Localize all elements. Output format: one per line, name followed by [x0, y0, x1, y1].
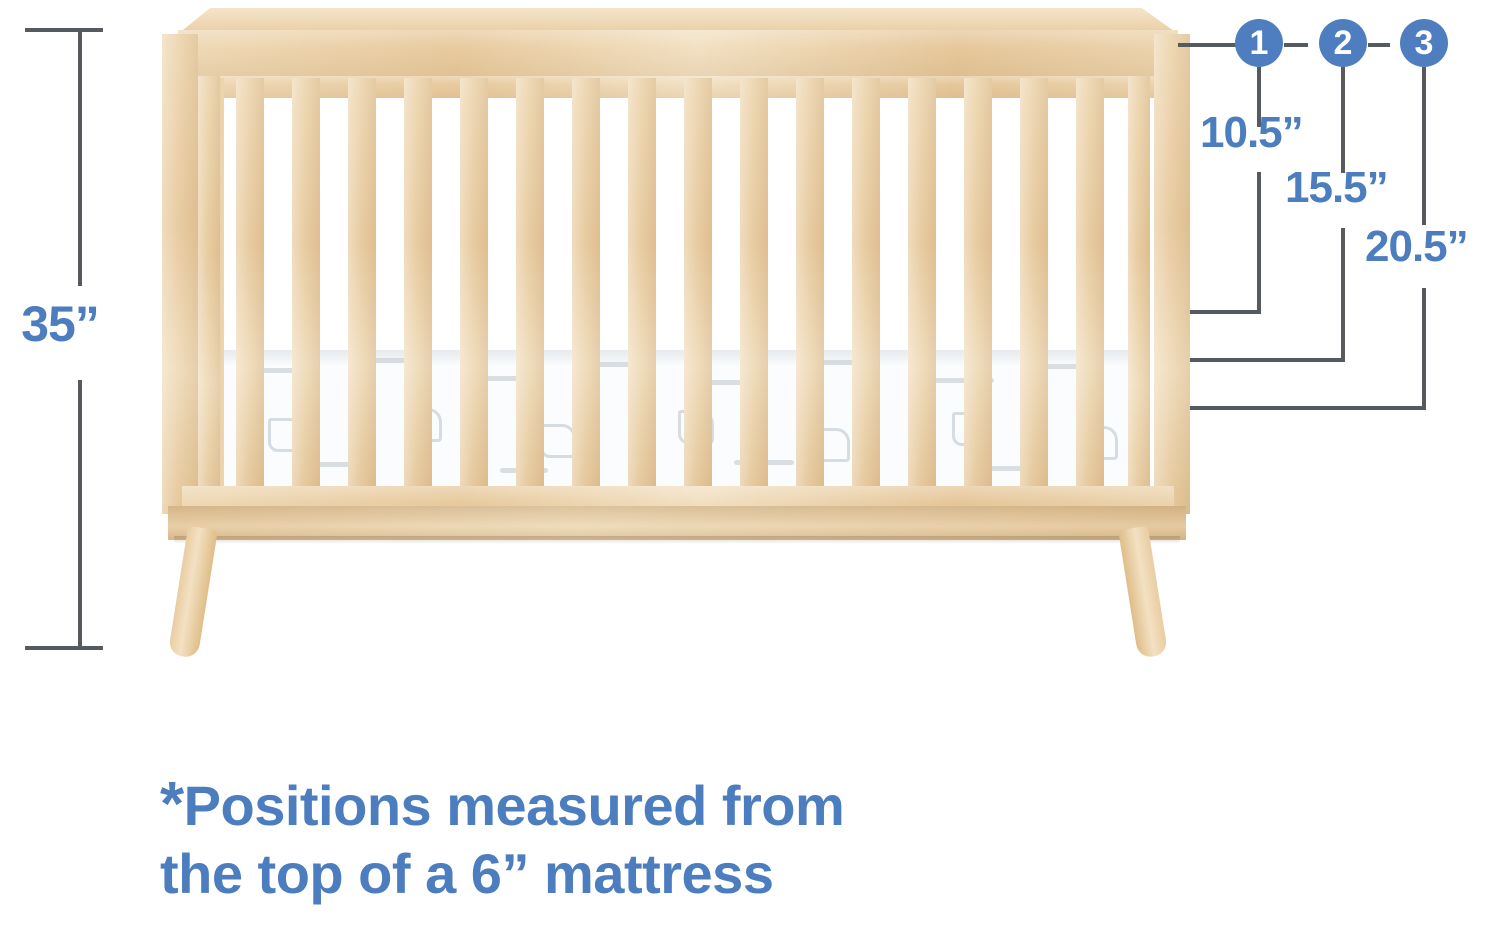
crib-slat	[460, 78, 488, 490]
crib-slat	[404, 78, 432, 490]
crib-slat	[572, 78, 600, 490]
footnote-line-2: the top of a 6” mattress	[160, 842, 773, 905]
mattress-position-callouts: 1 2 3 10.5” 15.5” 20.5”	[1150, 0, 1500, 440]
leader-3-drop-lower	[1422, 288, 1426, 410]
badge-connector-lead	[1178, 43, 1236, 47]
crib-slat	[348, 78, 376, 490]
measurement-label-2: 15.5”	[1285, 163, 1388, 213]
badge-connector-2-3	[1368, 43, 1390, 47]
footnote-line-1: Positions measured from	[184, 774, 845, 837]
crib-slat	[964, 78, 992, 490]
badge-connector-1-2	[1284, 43, 1308, 47]
crib-slat	[292, 78, 320, 490]
footnote-text: *Positions measured from the top of a 6”…	[160, 768, 1180, 907]
height-dimension-top-cap	[25, 28, 103, 32]
leader-1-drop-lower	[1257, 172, 1261, 314]
leader-2-drop-lower	[1341, 228, 1345, 362]
height-dimension-label: 35”	[0, 295, 120, 353]
leader-3-elbow	[1190, 406, 1426, 410]
crib-post-right-inner	[1128, 76, 1150, 516]
crib-leg-left	[168, 526, 218, 659]
position-badge-3[interactable]: 3	[1400, 19, 1448, 67]
leader-1-elbow	[1190, 310, 1261, 314]
crib-slat	[236, 78, 264, 490]
height-dimension-rule-lower	[78, 380, 82, 650]
leader-3-drop-upper	[1422, 67, 1426, 225]
crib-slat	[628, 78, 656, 490]
measurement-label-1: 10.5”	[1200, 108, 1303, 158]
infographic-canvas: 35”	[0, 0, 1500, 939]
position-badge-1[interactable]: 1	[1235, 19, 1283, 67]
height-dimension-bottom-cap	[25, 646, 103, 650]
position-badge-2[interactable]: 2	[1319, 19, 1367, 67]
crib-slat	[852, 78, 880, 490]
crib-slat	[908, 78, 936, 490]
crib-slat	[740, 78, 768, 490]
crib-slat	[516, 78, 544, 490]
crib-slat	[1076, 78, 1104, 490]
crib-post-left	[162, 34, 198, 514]
crib-slat	[796, 78, 824, 490]
crib-slat	[684, 78, 712, 490]
leader-2-elbow	[1190, 358, 1345, 362]
leader-2-drop-upper	[1341, 67, 1345, 173]
crib-post-left-inner	[198, 76, 220, 516]
crib-base-rail	[168, 506, 1186, 540]
height-dimension-group: 35”	[0, 0, 140, 700]
crib-illustration	[150, 0, 1190, 690]
crib-top-rail-front	[178, 30, 1178, 78]
measurement-label-3: 20.5”	[1365, 222, 1468, 272]
height-dimension-rule-upper	[78, 28, 82, 286]
crib-leg-right	[1118, 526, 1168, 659]
crib-base-shadow	[174, 536, 1180, 544]
asterisk-icon: *	[160, 770, 184, 839]
crib-slat	[1020, 78, 1048, 490]
